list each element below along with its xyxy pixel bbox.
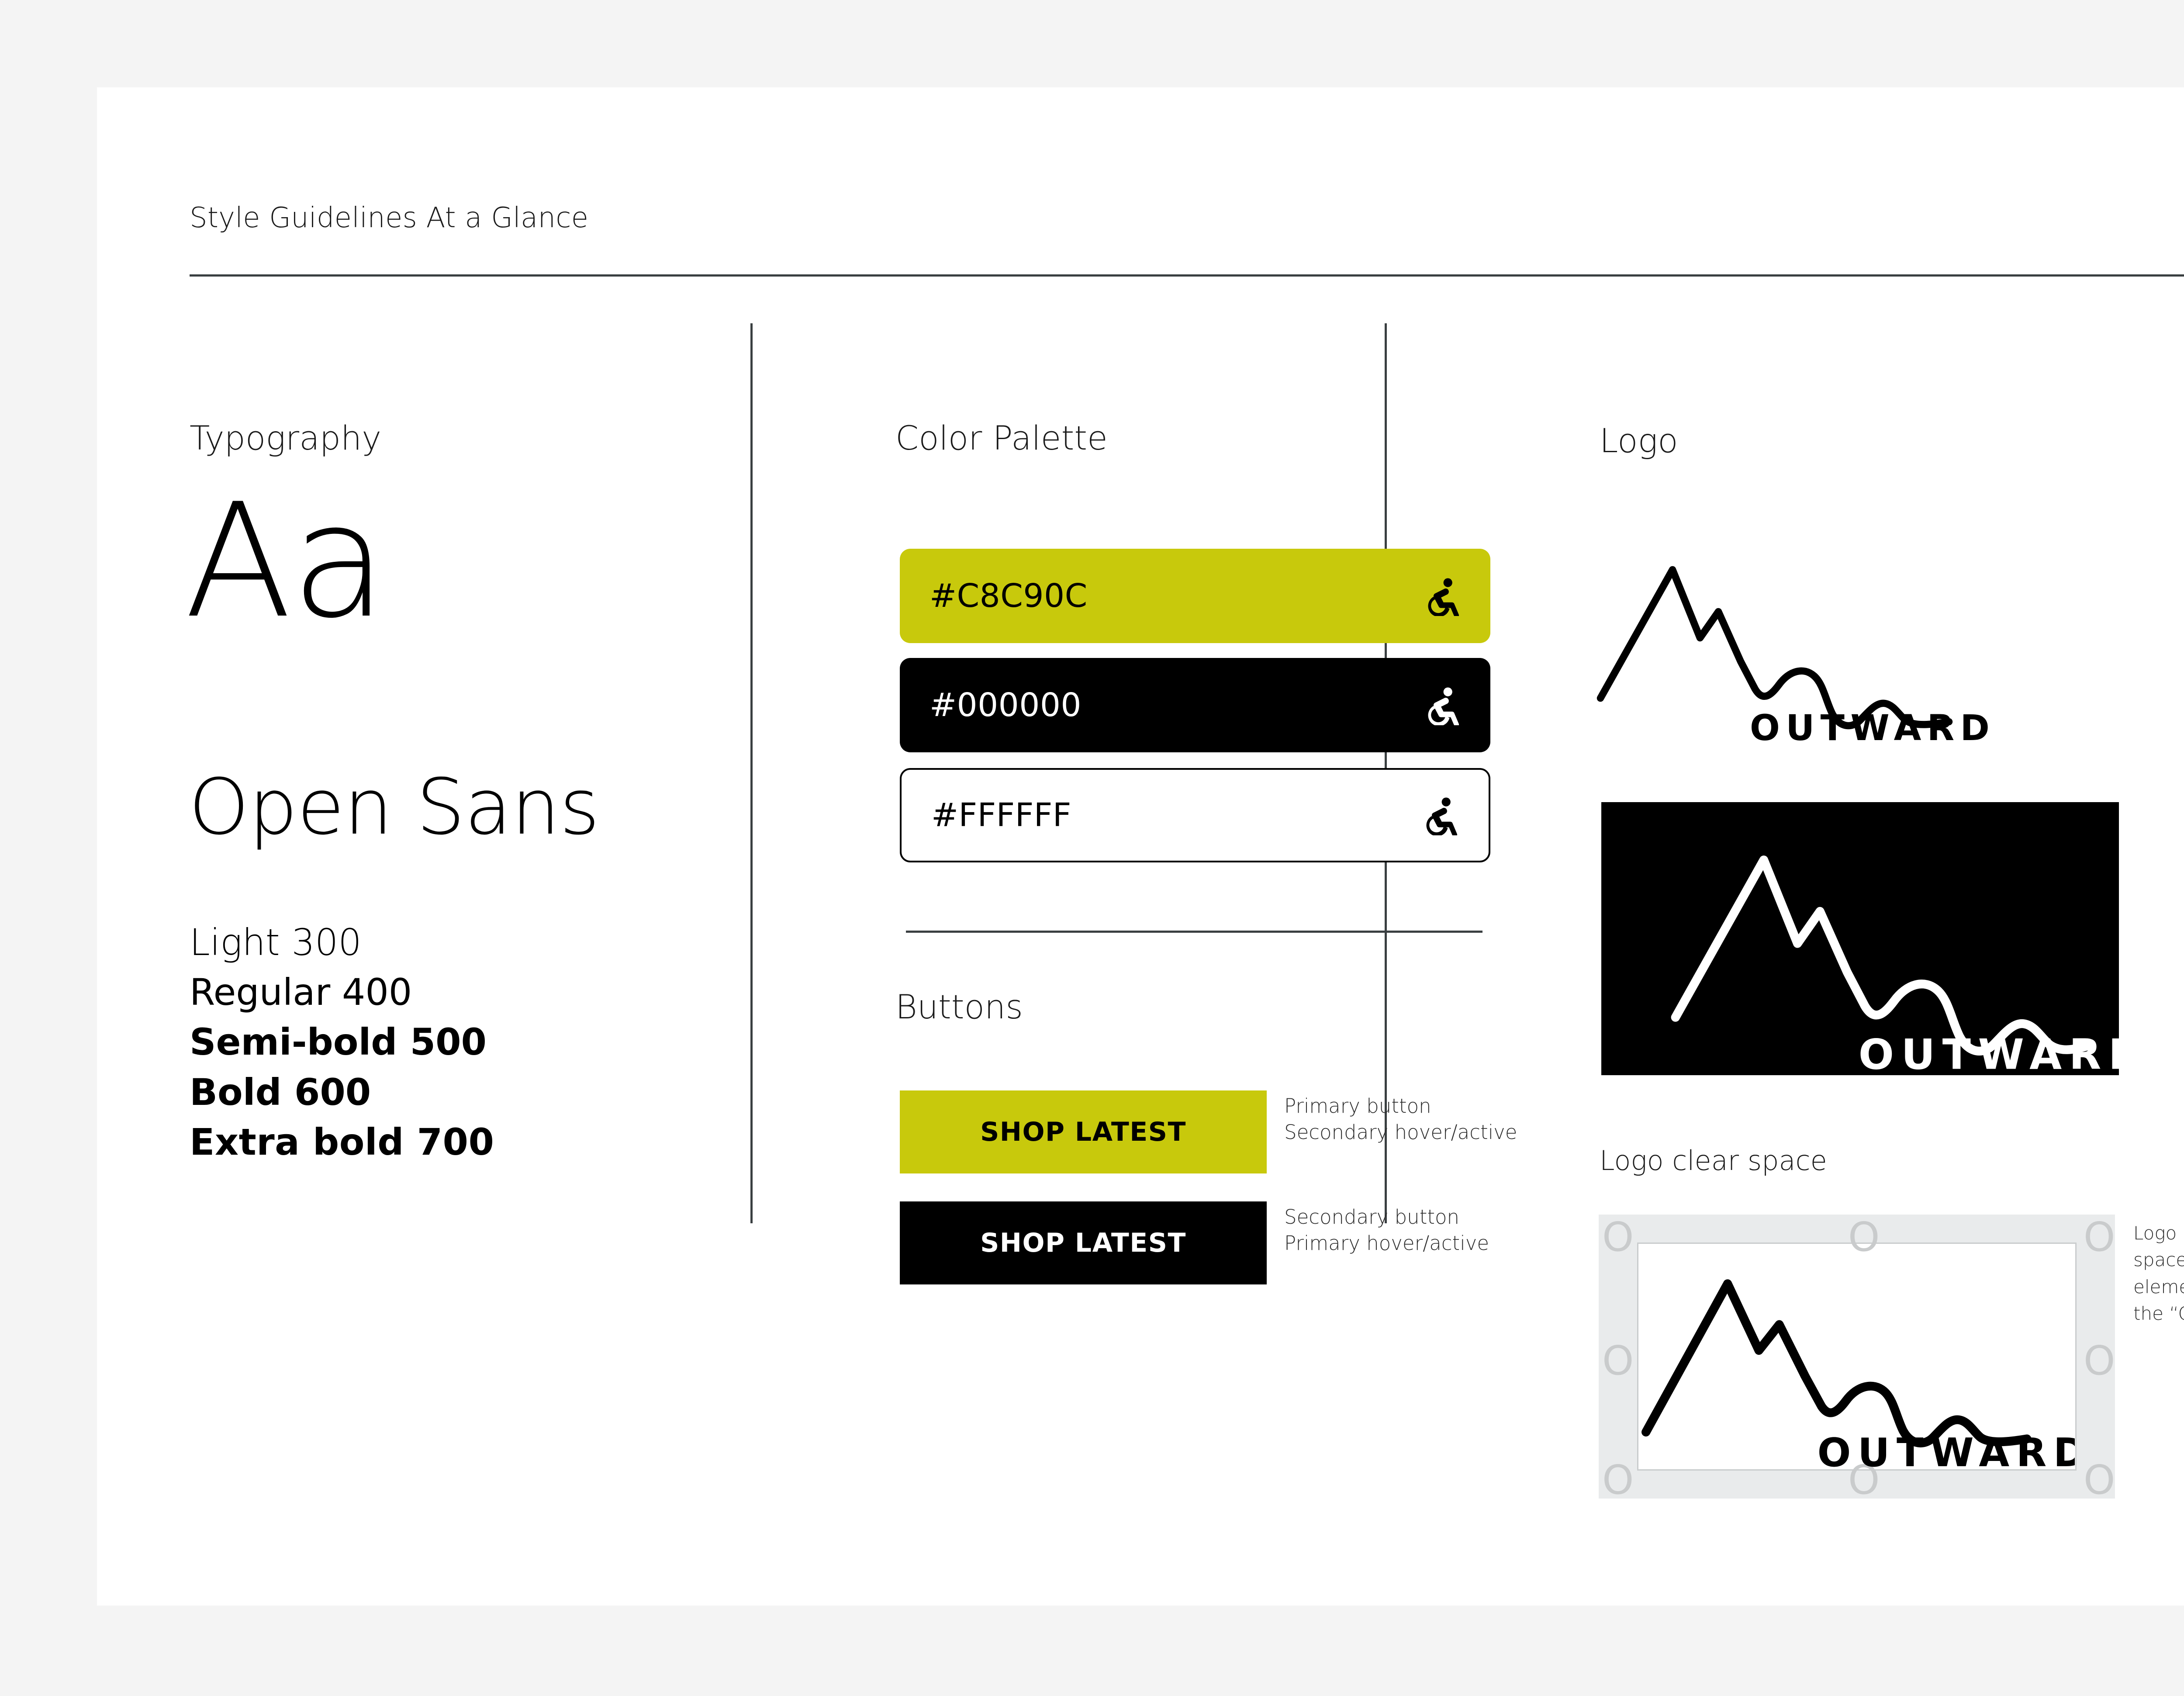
logo-light-with-wordmark: OUTWARD bbox=[1595, 546, 2015, 743]
font-weight-item: Semi-bold 500 bbox=[190, 1017, 714, 1067]
primary-button[interactable]: SHOP LATEST bbox=[900, 1090, 1267, 1173]
clear-space-marker: O bbox=[2084, 1217, 2115, 1257]
font-weight-item: Light 300 bbox=[190, 917, 714, 967]
logo-wordmark: OUTWARD bbox=[1818, 1430, 2075, 1469]
primary-button-caption: Primary button Secondary hover/active bbox=[1284, 1093, 1517, 1146]
typography-heading: Typography bbox=[190, 419, 381, 457]
clear-space-marker: O bbox=[1602, 1217, 1634, 1257]
clear-space-marker: O bbox=[1602, 1341, 1634, 1381]
font-weight-item: Regular 400 bbox=[190, 967, 714, 1017]
clear-space-marker: O bbox=[1602, 1460, 1634, 1500]
clear-space-marker: O bbox=[2084, 1460, 2115, 1500]
font-weight-item: Bold 600 bbox=[190, 1067, 714, 1117]
color-hex-value: #C8C90C bbox=[930, 580, 1088, 612]
slide-canvas: Style Guidelines At a Glance Typography … bbox=[97, 87, 2184, 1606]
palette-buttons-divider bbox=[906, 931, 1482, 933]
primary-button-caption-line1: Primary button bbox=[1284, 1093, 1517, 1119]
secondary-button-label: SHOP LATEST bbox=[980, 1228, 1186, 1258]
color-swatch[interactable]: #C8C90C bbox=[900, 549, 1490, 643]
logo-clear-space-diagram: O O O O O O O O OUTWARD bbox=[1599, 1215, 2115, 1499]
column-divider-left bbox=[750, 323, 753, 1223]
buttons-heading: Buttons bbox=[895, 987, 1023, 1026]
font-family-name: Open Sans bbox=[189, 769, 599, 846]
color-swatch[interactable]: #000000 bbox=[900, 658, 1490, 752]
mountain-line-path bbox=[1676, 860, 2087, 1051]
secondary-button-caption-line1: Secondary button bbox=[1284, 1204, 1489, 1230]
mountain-line-path bbox=[1600, 570, 1949, 726]
logo-clear-space-note: Logo must have a minimum clear space fro… bbox=[2133, 1220, 2184, 1327]
logo-wordmark: OUTWARD bbox=[1859, 1030, 2119, 1075]
primary-button-caption-line2: Secondary hover/active bbox=[1284, 1119, 1517, 1146]
clear-space-logo: OUTWARD bbox=[1639, 1244, 2075, 1469]
font-specimen-aa: Aa bbox=[184, 483, 387, 640]
accessible-icon bbox=[1421, 685, 1462, 725]
font-weight-list: Light 300 Regular 400 Semi-bold 500 Bold… bbox=[190, 917, 714, 1167]
accessible-icon bbox=[1420, 795, 1460, 835]
primary-button-label: SHOP LATEST bbox=[980, 1117, 1186, 1147]
mountain-line-path bbox=[1646, 1284, 2027, 1443]
logo-heading: Logo bbox=[1600, 421, 1678, 460]
color-palette-heading: Color Palette bbox=[895, 419, 1108, 457]
color-hex-value: #FFFFFF bbox=[931, 799, 1071, 831]
logo-wordmark: OUTWARD bbox=[1750, 708, 1995, 743]
secondary-button-caption-line2: Primary hover/active bbox=[1284, 1230, 1489, 1256]
color-swatch[interactable]: #FFFFFF bbox=[900, 768, 1490, 862]
clear-space-marker: O bbox=[2084, 1341, 2115, 1381]
header-divider bbox=[190, 274, 2184, 277]
logo-dark-with-wordmark: OUTWARD bbox=[1601, 802, 2119, 1075]
font-weight-item: Extra bold 700 bbox=[190, 1117, 714, 1167]
logo-clear-space-heading: Logo clear space bbox=[1600, 1145, 1827, 1177]
color-hex-value: #000000 bbox=[930, 689, 1082, 721]
page-title: Style Guidelines At a Glance bbox=[190, 202, 588, 234]
secondary-button[interactable]: SHOP LATEST bbox=[900, 1201, 1267, 1284]
accessible-icon bbox=[1421, 576, 1462, 616]
secondary-button-caption: Secondary button Primary hover/active bbox=[1284, 1204, 1489, 1256]
